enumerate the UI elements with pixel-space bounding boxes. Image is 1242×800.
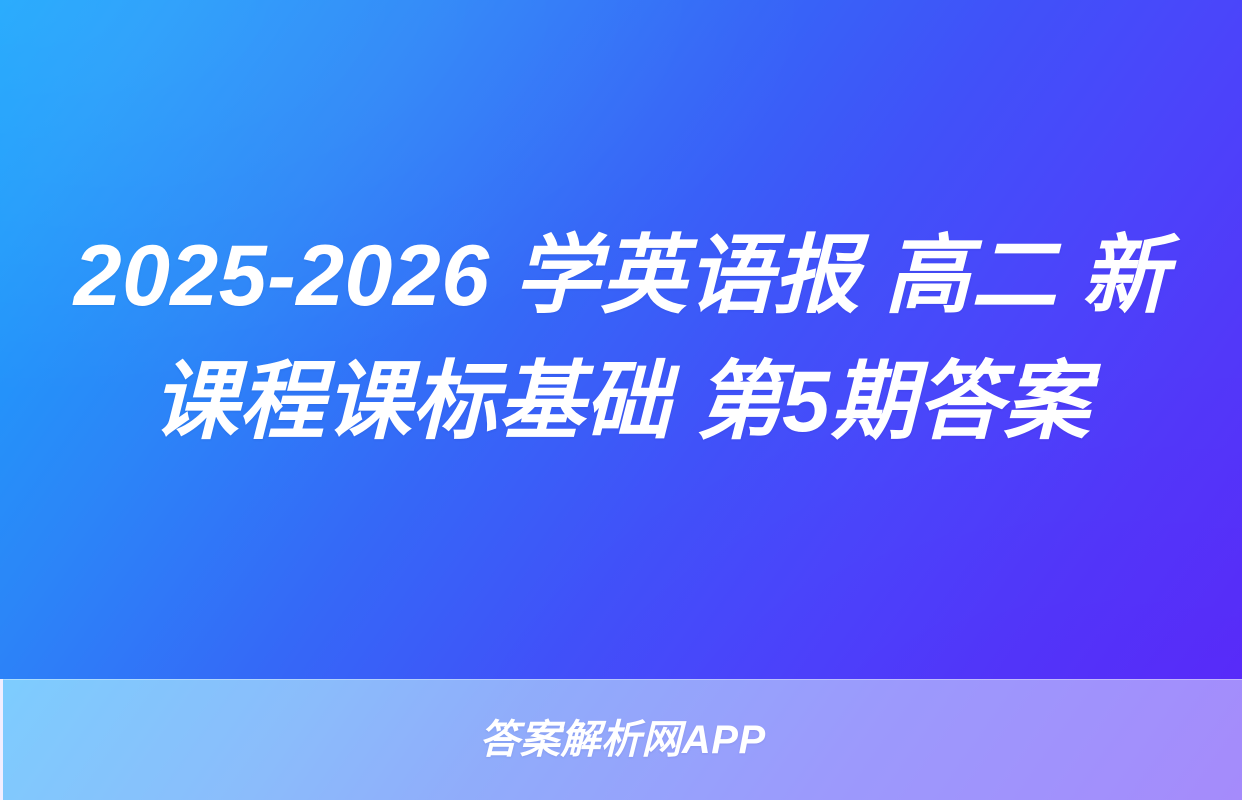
banner-divider: [3, 679, 1242, 680]
answer-thumbnail-card: 2025-2026 学英语报 高二 新课程课标基础 第5期答案 答案解析网APP: [0, 0, 1242, 800]
app-banner[interactable]: 答案解析网APP: [0, 679, 1242, 800]
headline-container: 2025-2026 学英语报 高二 新课程课标基础 第5期答案: [0, 0, 1242, 679]
page-title: 2025-2026 学英语报 高二 新课程课标基础 第5期答案: [34, 214, 1208, 465]
app-name-label: 答案解析网APP: [479, 720, 765, 760]
